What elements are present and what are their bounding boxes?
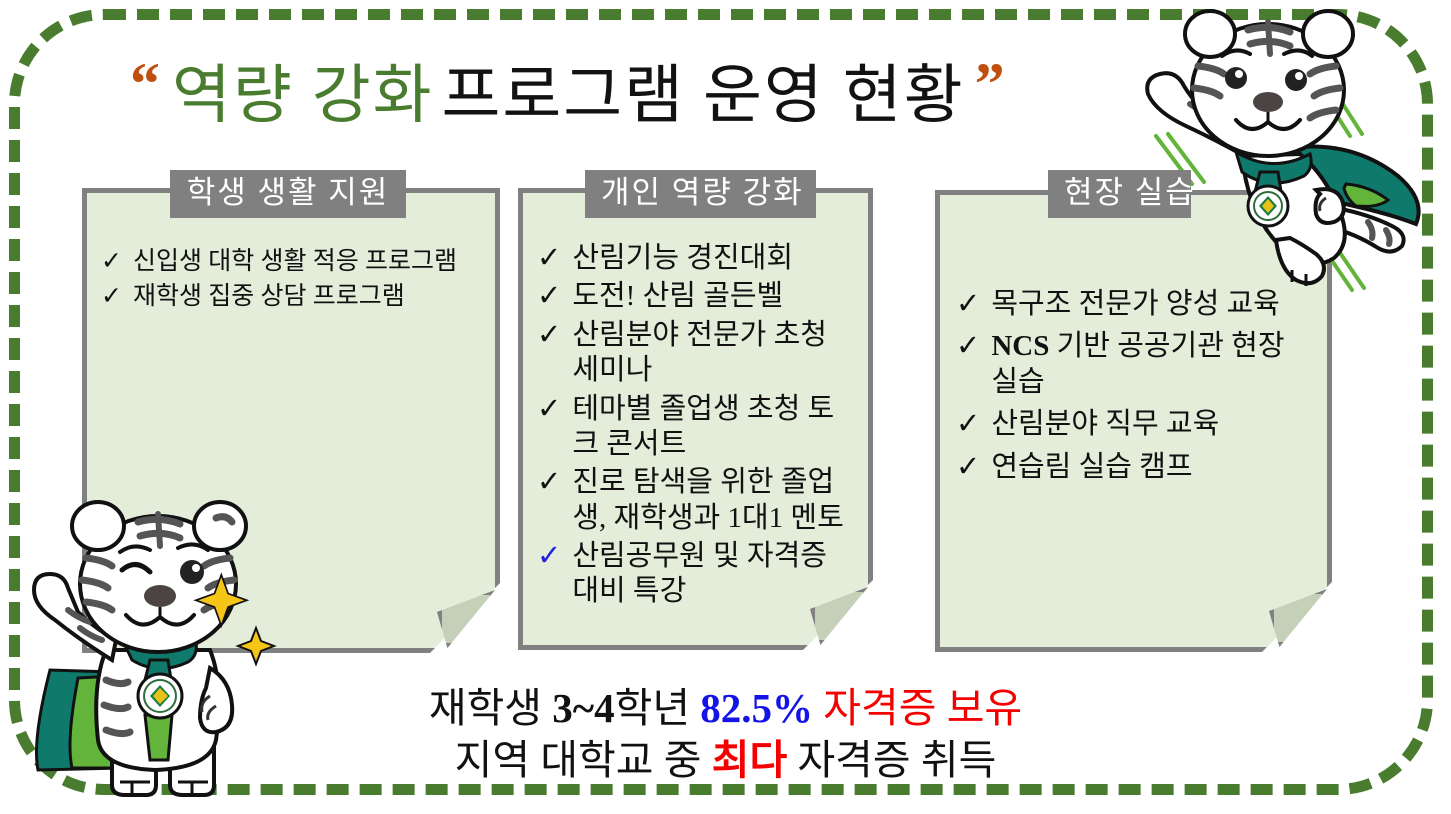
list-item-label: 도전! 산림 골든벨 <box>572 279 783 314</box>
list-item: ✓ NCS 기반 공공기관 현장 실습 <box>956 329 1317 400</box>
list-item-label: 진로 탐색을 위한 졸업생, 재학생과 1대1 멘토 <box>572 465 858 536</box>
check-icon: ✓ <box>537 392 561 427</box>
caption-l2-part3: 자격증 취득 <box>787 737 996 783</box>
check-icon: ✓ <box>956 329 980 364</box>
card-2-header: 개인 역량 강화 <box>585 170 816 218</box>
list-item: ✓ 도전! 산림 골든벨 <box>537 279 858 314</box>
open-quote-icon: “ <box>130 54 160 114</box>
caption-l1-percent: 82.5% <box>700 685 813 731</box>
check-icon: ✓ <box>956 450 980 485</box>
page-title-rest: 프로그램 운영 현황 <box>442 64 965 128</box>
list-item-label: 산림기능 경진대회 <box>572 241 793 276</box>
list-item: ✓ 산림분야 전문가 초청 세미나 <box>537 318 858 389</box>
list-item-label: 산림분야 전문가 초청 세미나 <box>572 318 858 389</box>
list-item: ✓ 산림기능 경진대회 <box>537 241 858 276</box>
list-item: ✓ 산림분야 직무 교육 <box>956 407 1317 442</box>
card-personal-competency: ✓ 산림기능 경진대회 ✓ 도전! 산림 골든벨 ✓ 산림분야 전문가 초청 세… <box>518 188 873 650</box>
card-3-header: 현장 실습 <box>1048 170 1191 218</box>
card-1-item-list: ✓ 신입생 대학 생활 적응 프로그램 ✓ 재학생 집중 상담 프로그램 <box>101 247 485 312</box>
check-icon: ✓ <box>101 282 122 313</box>
list-item-label: 재학생 집중 상담 프로그램 <box>133 282 405 313</box>
tiger-mascot-standing <box>20 500 290 805</box>
check-icon: ✓ <box>537 241 561 276</box>
tiger-mascot-flying <box>1140 8 1440 303</box>
check-icon: ✓ <box>537 465 561 500</box>
caption-l1-part5: 자격증 보유 <box>813 685 1022 731</box>
check-icon: ✓ <box>537 279 561 314</box>
close-quote-icon: ” <box>975 54 1005 114</box>
caption-l1-grade: 3~4 <box>552 685 614 731</box>
list-item-label: 신입생 대학 생활 적응 프로그램 <box>133 247 457 278</box>
list-item: ✓ 재학생 집중 상담 프로그램 <box>101 282 485 313</box>
check-icon: ✓ <box>956 407 980 442</box>
caption-l1-part1: 재학생 <box>429 685 552 731</box>
card-2-body: ✓ 산림기능 경진대회 ✓ 도전! 산림 골든벨 ✓ 산림분야 전문가 초청 세… <box>523 193 868 645</box>
card-2-item-list: ✓ 산림기능 경진대회 ✓ 도전! 산림 골든벨 ✓ 산림분야 전문가 초청 세… <box>537 241 858 610</box>
page-title: “ 역량 강화 프로그램 운영 현황 ” <box>130 44 1210 148</box>
card-1-header: 학생 생활 지원 <box>170 170 406 218</box>
list-item-label: NCS 기반 공공기관 현장 실습 <box>991 329 1317 400</box>
check-icon: ✓ <box>101 247 122 278</box>
caption-l2-part1: 지역 대학교 중 <box>455 737 712 783</box>
caption-l1-part3: 학년 <box>615 685 701 731</box>
check-icon: ✓ <box>537 318 561 353</box>
caption-l2-most: 최다 <box>712 737 787 783</box>
list-item: ✓ 신입생 대학 생활 적응 프로그램 <box>101 247 485 278</box>
list-item-label: 산림분야 직무 교육 <box>991 407 1219 442</box>
list-item-label: 테마별 졸업생 초청 토크 콘서트 <box>572 392 858 463</box>
list-item: ✓ 테마별 졸업생 초청 토크 콘서트 <box>537 392 858 463</box>
list-item: ✓ 연습림 실습 캠프 <box>956 450 1317 485</box>
card-3-item-list: ✓ 목구조 전문가 양성 교육 ✓ NCS 기반 공공기관 현장 실습 ✓ 산림… <box>956 287 1317 485</box>
list-item-label: 연습림 실습 캠프 <box>991 450 1192 485</box>
list-item-highlighted: ✓ 산림공무원 및 자격증 대비 특강 <box>537 539 858 610</box>
page-title-highlight: 역량 강화 <box>172 64 434 128</box>
check-icon: ✓ <box>956 287 980 322</box>
list-item: ✓ 진로 탐색을 위한 졸업생, 재학생과 1대1 멘토 <box>537 465 858 536</box>
check-icon: ✓ <box>537 539 561 574</box>
list-item-label: 산림공무원 및 자격증 대비 특강 <box>572 539 858 610</box>
